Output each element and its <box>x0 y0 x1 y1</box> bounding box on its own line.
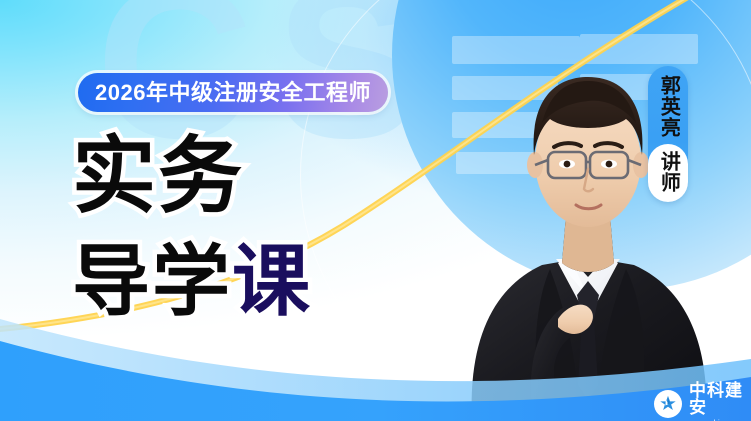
course-badge: 2026年中级注册安全工程师 <box>78 73 388 112</box>
instructor-name: 郭英亮 <box>657 75 680 138</box>
brand-logo: 中科建安 www.zkjan.com <box>654 382 751 421</box>
page-subtitle: 导学课 <box>72 242 312 320</box>
page-subtitle-part1: 导学 <box>72 237 232 325</box>
brand-logo-text: 中科建安 www.zkjan.com <box>689 382 751 421</box>
instructor-role-chip: 讲师 <box>648 144 688 202</box>
brand-name: 中科建安 <box>689 382 751 416</box>
page-title: 实务 <box>72 134 244 218</box>
instructor-role: 讲师 <box>657 151 680 193</box>
instructor-name-badge: 郭英亮 讲师 <box>648 66 688 202</box>
course-badge-label: 2026年中级注册安全工程师 <box>95 82 371 104</box>
page-subtitle-part2: 课 <box>232 237 312 325</box>
zkjan-star-logo-icon <box>654 390 682 418</box>
course-cover-banner: CSE <box>0 0 751 421</box>
